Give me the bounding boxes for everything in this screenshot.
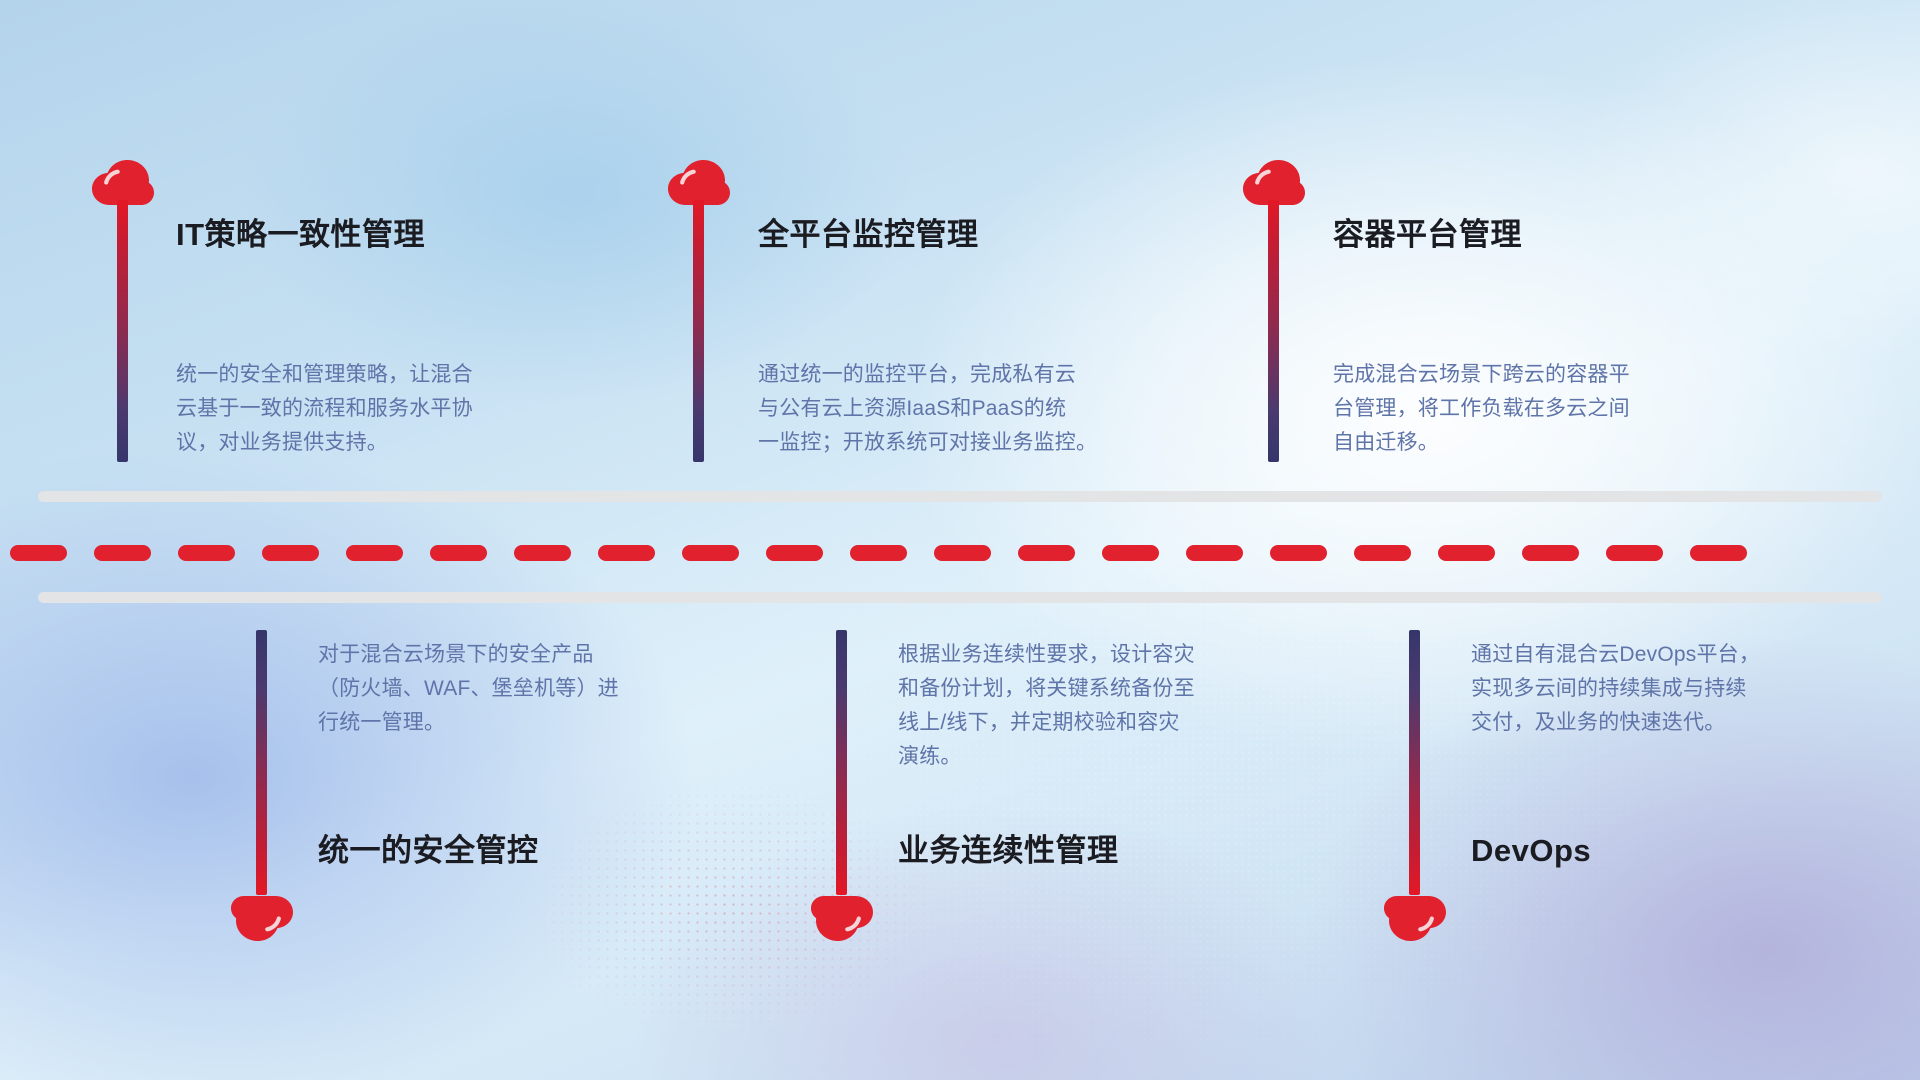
dash-segment [598,545,655,561]
divider-line-bottom [38,592,1882,603]
dash-segment [262,545,319,561]
body-devops: 通过自有混合云DevOps平台， 实现多云间的持续集成与持续 交付，及业务的快速… [1471,638,1901,740]
dashed-divider [0,545,1920,561]
dash-segment [934,545,991,561]
dash-segment [1522,545,1579,561]
heading-devops: DevOps [1471,832,1591,869]
stem-bar-bottom-1 [256,630,267,895]
dash-segment [430,545,487,561]
dash-segment [514,545,571,561]
body-business-continuity: 根据业务连续性要求，设计容灾 和备份计划，将关键系统备份至 线上/线下，并定期校… [898,638,1348,774]
heading-unified-security: 统一的安全管控 [318,832,539,869]
stem-bar-bottom-3 [1409,630,1420,895]
heading-container-platform: 容器平台管理 [1333,216,1522,253]
heading-it-policy-consistency: IT策略一致性管理 [176,216,425,253]
dash-segment [1606,545,1663,561]
infographic-canvas: IT策略一致性管理 统一的安全和管理策略，让混合 云基于一致的流程和服务水平协 … [0,0,1920,1080]
cloud-icon [231,895,293,941]
dash-segment [682,545,739,561]
dash-segment [346,545,403,561]
dash-segment [94,545,151,561]
dash-segment [10,545,67,561]
body-it-policy-consistency: 统一的安全和管理策略，让混合 云基于一致的流程和服务水平协 议，对业务提供支持。 [176,358,606,460]
body-container-platform: 完成混合云场景下跨云的容器平 台管理，将工作负载在多云之间 自由迁移。 [1333,358,1763,460]
dash-segment [766,545,823,561]
heading-full-platform-monitoring: 全平台监控管理 [758,216,979,253]
body-unified-security: 对于混合云场景下的安全产品 （防火墙、WAF、堡垒机等）进 行统一管理。 [318,638,748,740]
stem-bar-top-3 [1268,200,1279,462]
divider-line-top [38,491,1882,502]
cloud-icon [811,895,873,941]
dash-segment [850,545,907,561]
dash-segment [1102,545,1159,561]
dash-segment [1018,545,1075,561]
body-full-platform-monitoring: 通过统一的监控平台，完成私有云 与公有云上资源IaaS和PaaS的统 一监控；开… [758,358,1208,460]
heading-business-continuity: 业务连续性管理 [898,832,1119,869]
dash-segment [1270,545,1327,561]
stem-bar-bottom-2 [836,630,847,895]
dash-segment [1438,545,1495,561]
stem-bar-top-1 [117,200,128,462]
dash-segment [1354,545,1411,561]
dash-segment [1690,545,1747,561]
stem-bar-top-2 [693,200,704,462]
dash-segment [1186,545,1243,561]
dash-segment [178,545,235,561]
cloud-icon [1384,895,1446,941]
